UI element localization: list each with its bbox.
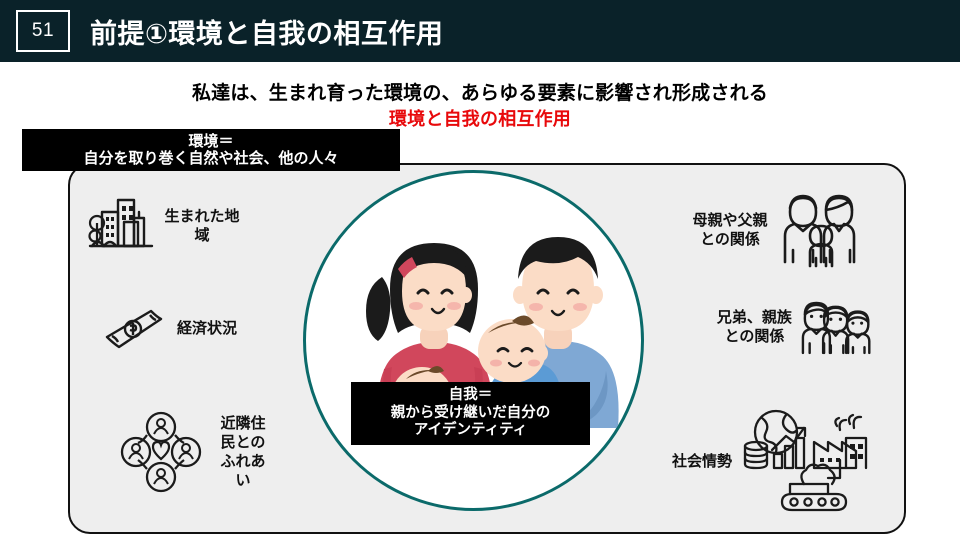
factor-birthplace: 生まれた地域 — [88, 196, 268, 256]
subtitle-line1: 私達は、生まれ育った環境の、あらゆる要素に影響され形成される — [0, 78, 960, 105]
factor-neighbour-interaction: 近隣住民とのふれあい — [118, 410, 293, 494]
factor-parent-relationship: 母親や父親との関係 — [688, 190, 868, 270]
slide-header: 51 前提①環境と自我の相互作用 — [0, 0, 960, 62]
factor-social-situation: 社会情勢 — [672, 406, 872, 518]
ego-definition-box: 自我＝ 親から受け継いだ自分の アイデンティティ — [351, 382, 590, 445]
factor-sibling-relationship-label: 兄弟、親族との関係 — [714, 308, 795, 346]
siblings-relatives-icon — [801, 296, 872, 358]
self-circle — [303, 170, 644, 511]
cityscape-icon — [88, 196, 154, 256]
society-globe-factory-tank-icon — [742, 406, 870, 518]
factor-economic-status-label: 経済状況 — [173, 319, 241, 338]
factor-parent-relationship-label: 母親や父親との関係 — [688, 211, 772, 249]
banknote-icon — [103, 305, 165, 353]
environment-definition-line1: 環境＝ — [188, 133, 233, 150]
factor-neighbour-interaction-label: 近隣住民とのふれあい — [214, 414, 272, 491]
environment-definition-banner: 環境＝ 自分を取り巻く自然や社会、他の人々 — [22, 129, 400, 171]
environment-definition-line2: 自分を取り巻く自然や社会、他の人々 — [83, 150, 338, 167]
factor-social-situation-label: 社会情勢 — [672, 452, 732, 471]
ego-definition-line2: 親から受け継いだ自分の — [391, 405, 551, 422]
page-number-box: 51 — [16, 10, 70, 52]
community-heart-icon — [118, 410, 204, 494]
page-title: 前提①環境と自我の相互作用 — [90, 12, 443, 51]
factor-sibling-relationship: 兄弟、親族との関係 — [714, 296, 872, 358]
page-number: 51 — [32, 20, 54, 42]
ego-definition-line1: 自我＝ — [449, 387, 493, 404]
factor-economic-status: 経済状況 — [103, 305, 273, 353]
factor-birthplace-label: 生まれた地域 — [162, 207, 242, 245]
subtitle-line2: 環境と自我の相互作用 — [0, 105, 960, 131]
slide: 51 前提①環境と自我の相互作用 私達は、生まれ育った環境の、あらゆる要素に影響… — [0, 0, 960, 540]
parents-holding-babies-illustration — [306, 173, 641, 508]
family-parents-child-icon — [780, 190, 862, 270]
ego-definition-line3: アイデンティティ — [414, 422, 528, 439]
